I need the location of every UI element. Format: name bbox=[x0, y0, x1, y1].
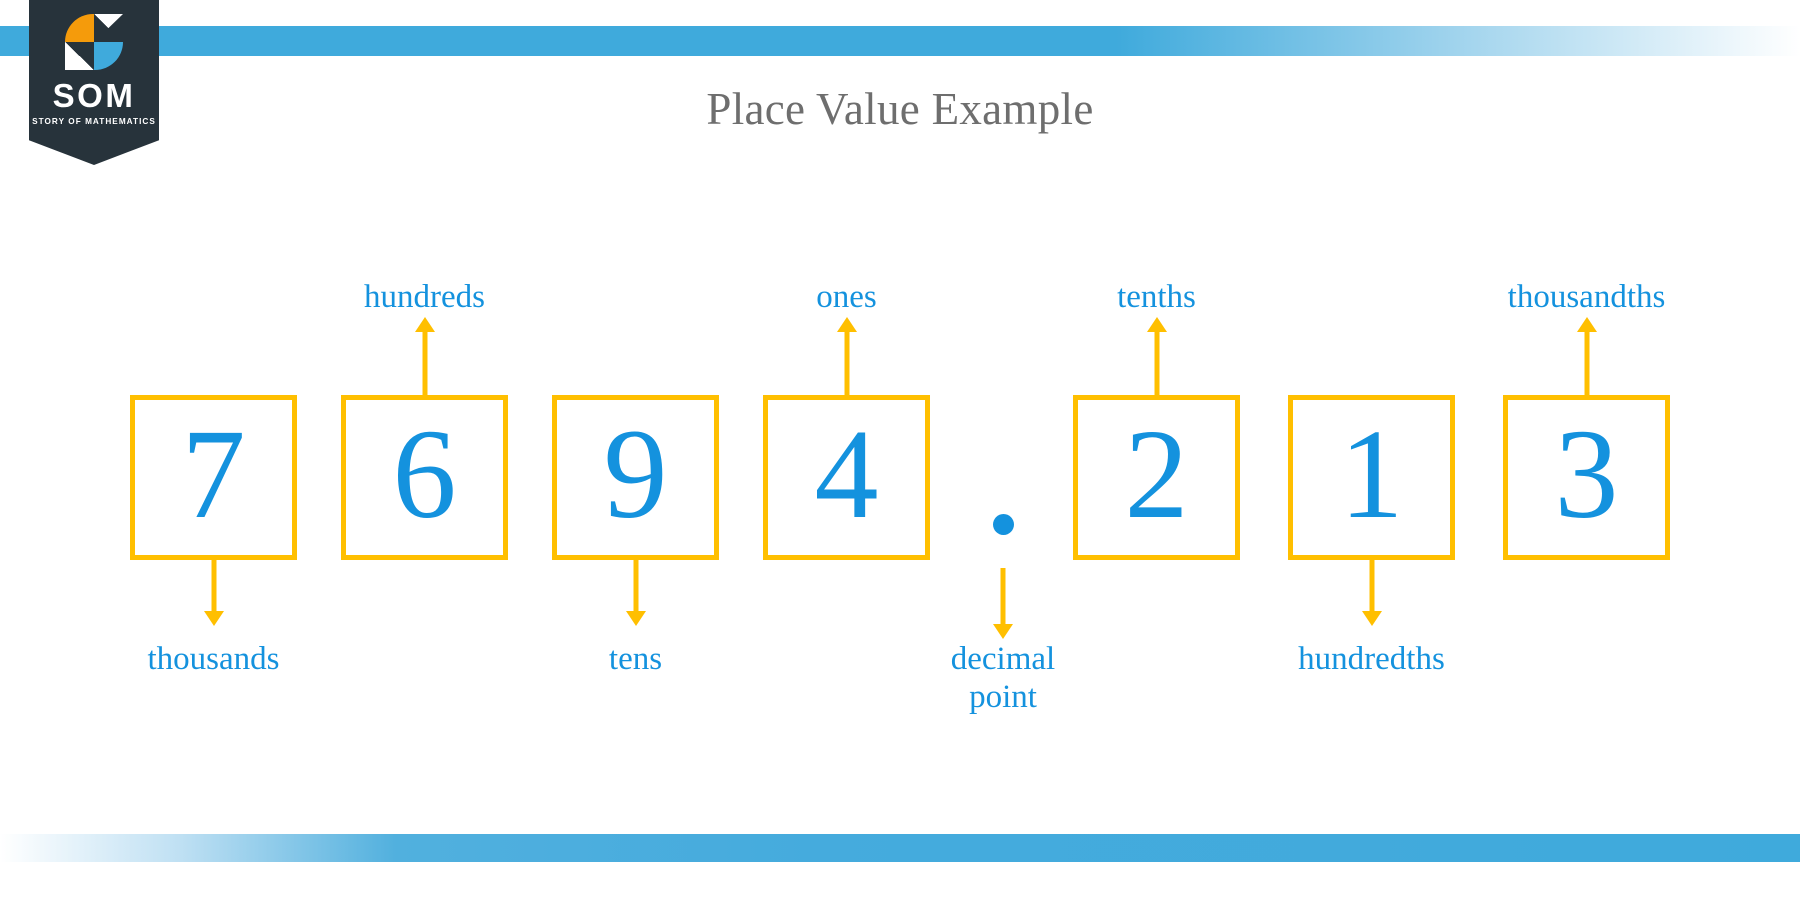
arrow-shaft bbox=[422, 330, 427, 395]
arrow-hundredths bbox=[1360, 560, 1384, 625]
digit-glyph: 1 bbox=[1340, 410, 1404, 538]
digit-box-hundreds: 6 bbox=[341, 395, 508, 560]
place-value-diagram: 7thousands6hundreds9tens4ones2tenths1hun… bbox=[0, 0, 1800, 900]
arrow-shaft bbox=[211, 560, 216, 613]
digit-box-tens: 9 bbox=[552, 395, 719, 560]
digit-glyph: 3 bbox=[1555, 410, 1619, 538]
place-label-thousandths: thousandths bbox=[1417, 278, 1757, 316]
arrow-head-icon bbox=[993, 624, 1013, 639]
place-label-hundreds: hundreds bbox=[255, 278, 595, 316]
arrow-shaft bbox=[1001, 568, 1006, 626]
arrow-decimal-point bbox=[991, 568, 1015, 638]
place-label-hundredths: hundredths bbox=[1202, 640, 1542, 678]
arrow-head-icon bbox=[204, 611, 224, 626]
digit-box-tenths: 2 bbox=[1073, 395, 1240, 560]
arrow-shaft bbox=[1584, 330, 1589, 395]
arrow-thousandths bbox=[1575, 318, 1599, 395]
place-label-decimal-point: decimal point bbox=[853, 640, 1153, 717]
digit-glyph: 9 bbox=[604, 410, 668, 538]
place-label-tens: tens bbox=[466, 640, 806, 678]
digit-box-hundredths: 1 bbox=[1288, 395, 1455, 560]
digit-glyph: 4 bbox=[815, 410, 879, 538]
arrow-thousands bbox=[202, 560, 226, 625]
arrow-tenths bbox=[1145, 318, 1169, 395]
arrow-shaft bbox=[633, 560, 638, 613]
digit-box-thousandths: 3 bbox=[1503, 395, 1670, 560]
digit-box-thousands: 7 bbox=[130, 395, 297, 560]
arrow-tens bbox=[624, 560, 648, 625]
place-label-thousands: thousands bbox=[44, 640, 384, 678]
place-label-tenths: tenths bbox=[987, 278, 1327, 316]
arrow-hundreds bbox=[413, 318, 437, 395]
digit-glyph: 2 bbox=[1125, 410, 1189, 538]
digit-glyph: 6 bbox=[393, 410, 457, 538]
arrow-shaft bbox=[1369, 560, 1374, 613]
place-label-ones: ones bbox=[677, 278, 1017, 316]
arrow-ones bbox=[835, 318, 859, 395]
arrow-shaft bbox=[844, 330, 849, 395]
arrow-shaft bbox=[1154, 330, 1159, 395]
arrow-head-icon bbox=[626, 611, 646, 626]
decimal-point-dot bbox=[993, 514, 1014, 535]
digit-glyph: 7 bbox=[182, 410, 246, 538]
digit-box-ones: 4 bbox=[763, 395, 930, 560]
arrow-head-icon bbox=[1362, 611, 1382, 626]
